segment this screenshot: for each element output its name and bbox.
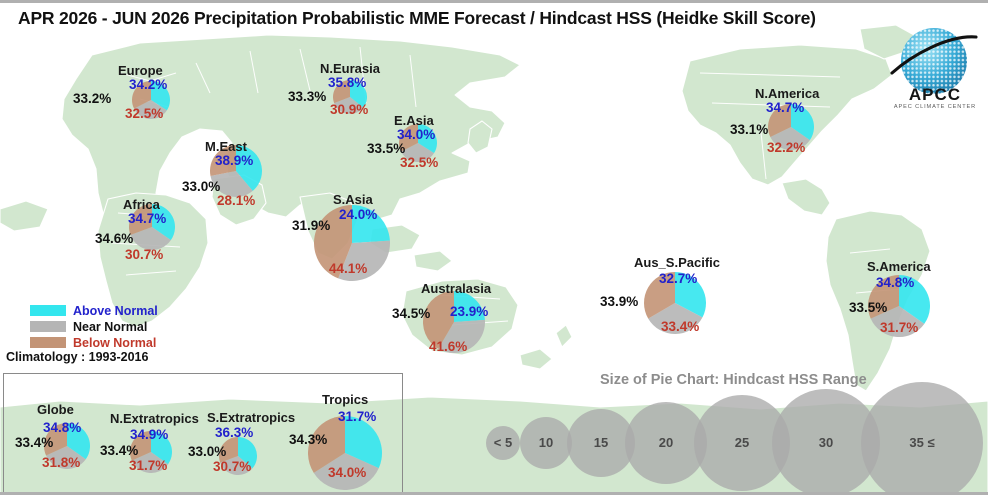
below-normal-value: 31.7% [129,458,167,473]
size-legend-caption: Size of Pie Chart: Hindcast HSS Range [600,372,867,388]
above-normal-value: 34.2% [129,77,167,92]
legend-row: Near Normal [30,319,158,334]
forecast-map-page: APR 2026 - JUN 2026 Precipitation Probab… [0,0,988,495]
apcc-logo-text: APCC [891,85,979,105]
above-normal-value: 35.8% [328,75,366,90]
below-normal-value: 32.5% [400,155,438,170]
above-normal-value: 34.8% [876,275,914,290]
near-normal-value: 33.4% [15,435,53,450]
above-normal-value: 24.0% [339,207,377,222]
below-normal-value: 32.2% [767,140,805,155]
region-label: Africa [123,197,160,212]
near-normal-value: 34.5% [392,306,430,321]
above-normal-value: 23.9% [450,304,488,319]
near-normal-value: 33.0% [188,444,226,459]
below-normal-value: 44.1% [329,261,367,276]
above-normal-value: 34.7% [766,100,804,115]
below-normal-value: 31.8% [42,455,80,470]
near-normal-value: 31.9% [292,218,330,233]
near-normal-value: 33.2% [73,91,111,106]
legend-swatch-2 [30,337,66,348]
region-label: Australasia [421,281,491,296]
region-label: S.Asia [333,192,373,207]
size-legend-label: 30 [796,435,856,450]
below-normal-value: 34.0% [328,465,366,480]
near-normal-value: 33.0% [182,179,220,194]
apcc-logo-subtitle: APEC CLIMATE CENTER [891,104,979,110]
size-legend-label: 20 [636,435,696,450]
above-normal-value: 31.7% [338,409,376,424]
legend-row: Above Normal [30,303,158,318]
below-normal-value: 30.9% [330,102,368,117]
near-normal-value: 33.1% [730,122,768,137]
region-label: Globe [37,402,74,417]
legend-label: Above Normal [73,304,158,318]
below-normal-value: 31.7% [880,320,918,335]
above-normal-value: 34.0% [397,127,435,142]
region-label: Tropics [322,392,368,407]
climatology-note: Climatology : 1993-2016 [6,350,148,364]
below-normal-value: 41.6% [429,339,467,354]
near-normal-value: 33.4% [100,443,138,458]
above-normal-value: 38.9% [215,153,253,168]
below-normal-value: 28.1% [217,193,255,208]
below-normal-value: 32.5% [125,106,163,121]
size-legend-label: 15 [571,435,631,450]
region-label: N.Extratropics [110,411,199,426]
below-normal-value: 33.4% [661,319,699,334]
region-label: N.America [755,86,819,101]
region-label: Aus_S.Pacific [634,255,720,270]
region-label: S.Extratropics [207,410,295,425]
region-label: M.East [205,139,247,154]
region-label: E.Asia [394,113,434,128]
near-normal-value: 33.5% [367,141,405,156]
near-normal-value: 33.5% [849,300,887,315]
legend-swatch-0 [30,305,66,316]
legend-swatch-1 [30,321,66,332]
legend-label: Below Normal [73,336,156,350]
size-legend-label: 35 ≤ [892,435,952,450]
size-legend-label: 25 [712,435,772,450]
category-legend: Above NormalNear NormalBelow Normal [30,303,158,351]
region-label: Europe [118,63,163,78]
above-normal-value: 34.9% [130,427,168,442]
legend-label: Near Normal [73,320,147,334]
near-normal-value: 33.9% [600,294,638,309]
below-normal-value: 30.7% [125,247,163,262]
near-normal-value: 33.3% [288,89,326,104]
near-normal-value: 34.3% [289,432,327,447]
region-label: S.America [867,259,931,274]
near-normal-value: 34.6% [95,231,133,246]
below-normal-value: 30.7% [213,459,251,474]
above-normal-value: 36.3% [215,425,253,440]
above-normal-value: 32.7% [659,271,697,286]
legend-row: Below Normal [30,335,158,350]
page-title: APR 2026 - JUN 2026 Precipitation Probab… [18,8,816,29]
above-normal-value: 34.7% [128,211,166,226]
above-normal-value: 34.8% [43,420,81,435]
region-label: N.Eurasia [320,61,380,76]
